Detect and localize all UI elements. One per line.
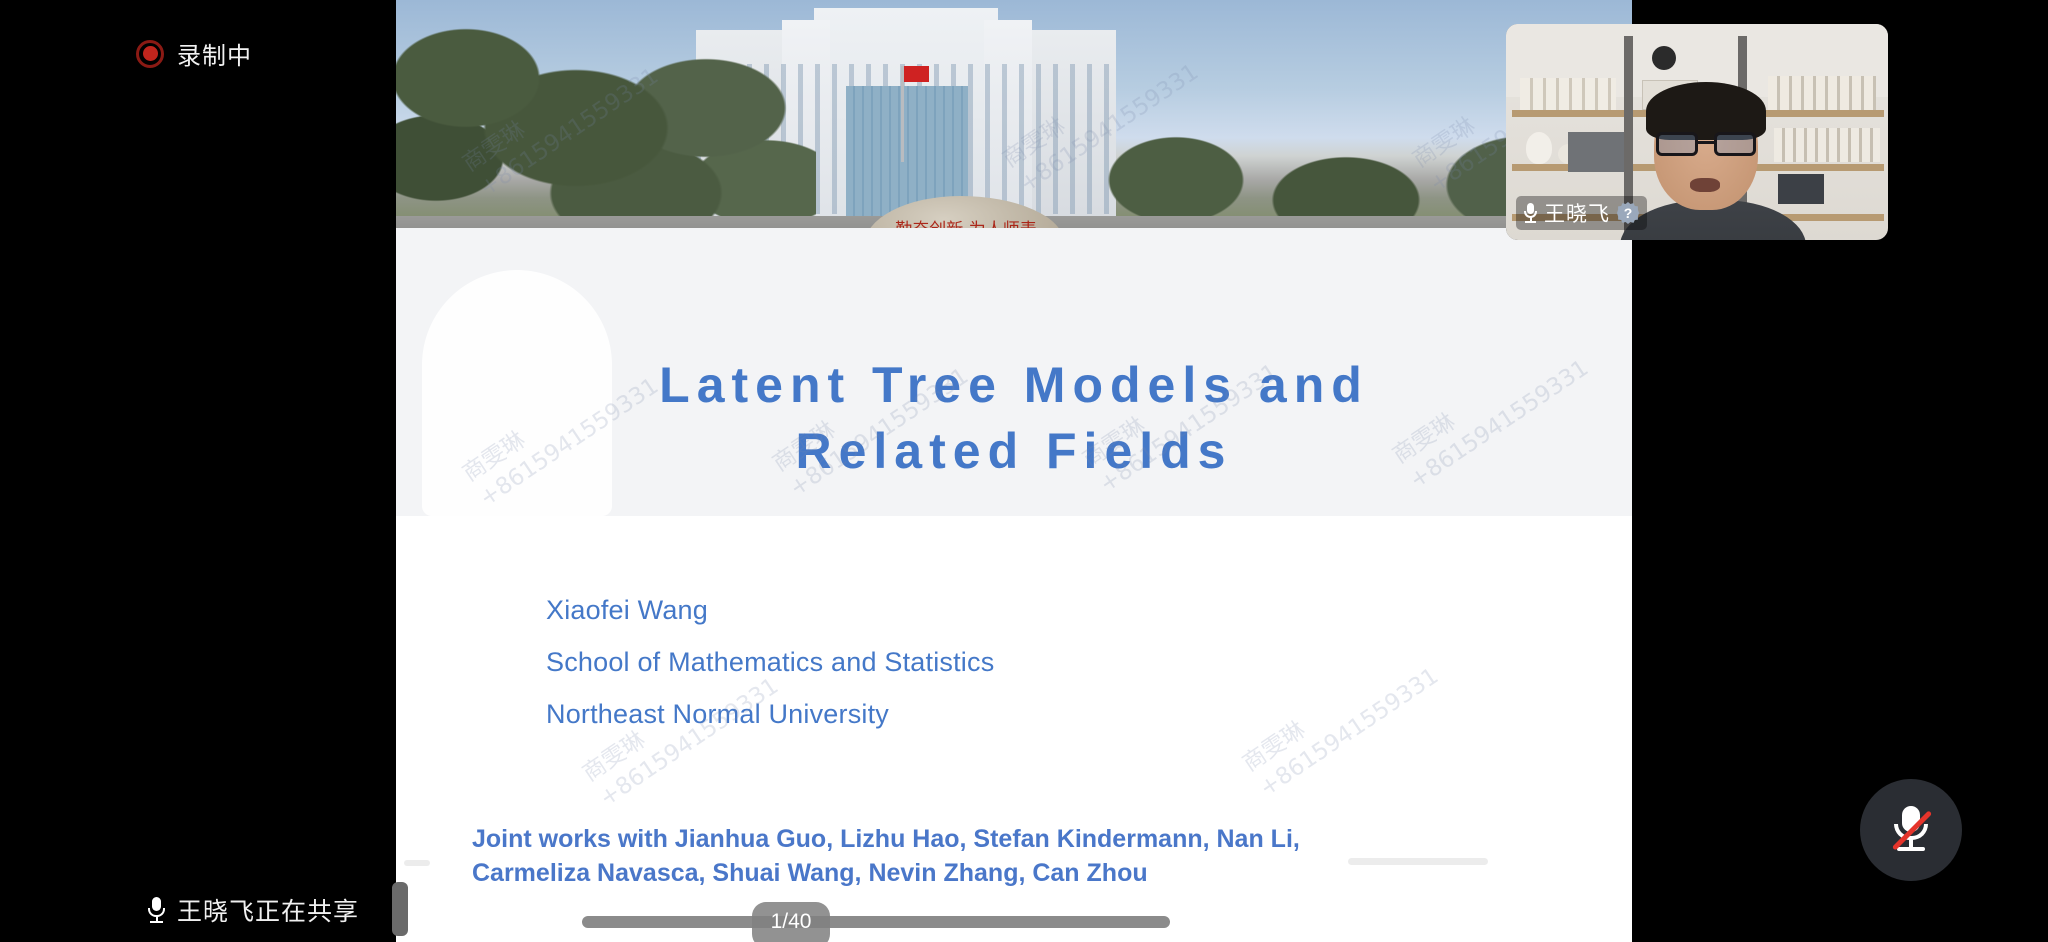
wall-clock-icon [1652,46,1676,70]
participant-name: 王晓飞 [1544,198,1610,228]
recording-indicator: 录制中 [136,36,252,71]
meeting-screen: 录制中 勤奋创新 为人师表 Latent [0,0,2048,942]
slide-page-indicator[interactable]: 1/40 [752,902,830,942]
monitor [1568,132,1624,172]
microphone-icon [1524,203,1537,223]
shared-slide[interactable]: 勤奋创新 为人师表 Latent Tree Models and Related… [396,0,1632,942]
author-school: School of Mathematics and Statistics [546,636,1446,688]
author-block: Xiaofei Wang School of Mathematics and S… [546,584,1446,740]
author-name: Xiaofei Wang [546,584,1446,636]
bookshelf-books [1520,78,1616,110]
joint-works-line-1: Joint works with Jianhua Guo, Lizhu Hao,… [472,822,1572,856]
recording-label: 录制中 [177,36,252,71]
slide-title-line-1: Latent Tree Models and [396,352,1632,418]
microphone-icon [148,897,165,923]
slide-navigation[interactable]: 1/40 [396,886,1632,942]
participant-name-badge: 王晓飞 ? [1516,196,1647,230]
microphone-muted-icon [1888,804,1934,856]
glasses-icon [1656,132,1756,156]
flag-icon [901,66,904,162]
sharing-status-bar: 王晓飞正在共享 [148,892,359,928]
question-badge-icon[interactable]: ? [1617,202,1639,224]
slide-title: Latent Tree Models and Related Fields [396,352,1632,484]
slide-progress-track[interactable] [582,916,1170,928]
participant-video-thumbnail[interactable]: 王晓飞 ? [1506,24,1888,240]
sharing-status-label: 王晓飞正在共享 [177,892,359,928]
author-university: Northeast Normal University [546,688,1446,740]
record-dot-icon [136,40,164,68]
decorative-rule-right [1348,858,1488,865]
slide-title-line-2: Related Fields [396,418,1632,484]
participant-avatar [1624,82,1800,240]
share-panel-drag-handle[interactable] [392,882,408,936]
vase [1526,132,1552,164]
decorative-rule-left [404,860,430,866]
pine-trees-left [396,8,816,248]
joint-works-text: Joint works with Jianhua Guo, Lizhu Hao,… [472,822,1572,890]
mute-toggle-button[interactable] [1860,779,1962,881]
